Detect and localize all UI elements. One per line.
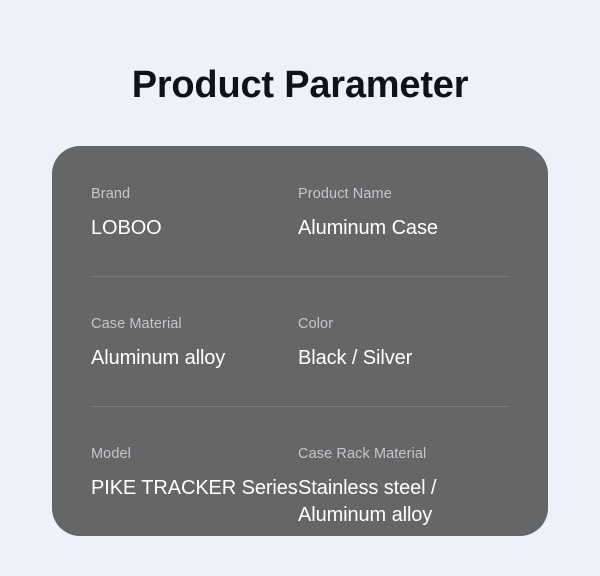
spec-value: Aluminum Case bbox=[298, 215, 509, 242]
specification-card: Brand LOBOO Product Name Aluminum Case C… bbox=[52, 146, 548, 536]
spec-cell-brand: Brand LOBOO bbox=[91, 146, 298, 276]
spec-value: Aluminum alloy bbox=[91, 345, 298, 372]
spec-cell-color: Color Black / Silver bbox=[298, 276, 509, 406]
spec-label: Case Material bbox=[91, 315, 298, 333]
spec-cell-model: Model PIKE TRACKER Series bbox=[91, 406, 298, 536]
spec-cell-product-name: Product Name Aluminum Case bbox=[298, 146, 509, 276]
spec-label: Product Name bbox=[298, 185, 509, 203]
specification-rows: Brand LOBOO Product Name Aluminum Case C… bbox=[91, 146, 509, 536]
spec-label: Brand bbox=[91, 185, 298, 203]
spec-value: PIKE TRACKER Series bbox=[91, 475, 298, 502]
spec-label: Color bbox=[298, 315, 509, 333]
spec-value: Stainless steel / Aluminum alloy bbox=[298, 475, 509, 529]
spec-value: Black / Silver bbox=[298, 345, 509, 372]
spec-label: Model bbox=[91, 445, 298, 463]
spec-label: Case Rack Material bbox=[298, 445, 509, 463]
page-title: Product Parameter bbox=[0, 59, 600, 111]
spec-row: Model PIKE TRACKER Series Case Rack Mate… bbox=[91, 406, 509, 536]
spec-value: LOBOO bbox=[91, 215, 298, 242]
spec-row: Case Material Aluminum alloy Color Black… bbox=[91, 276, 509, 406]
spec-cell-case-material: Case Material Aluminum alloy bbox=[91, 276, 298, 406]
product-parameter-page: Product Parameter Brand LOBOO Product Na… bbox=[0, 0, 600, 576]
spec-row: Brand LOBOO Product Name Aluminum Case bbox=[91, 146, 509, 276]
spec-cell-case-rack-material: Case Rack Material Stainless steel / Alu… bbox=[298, 406, 509, 536]
